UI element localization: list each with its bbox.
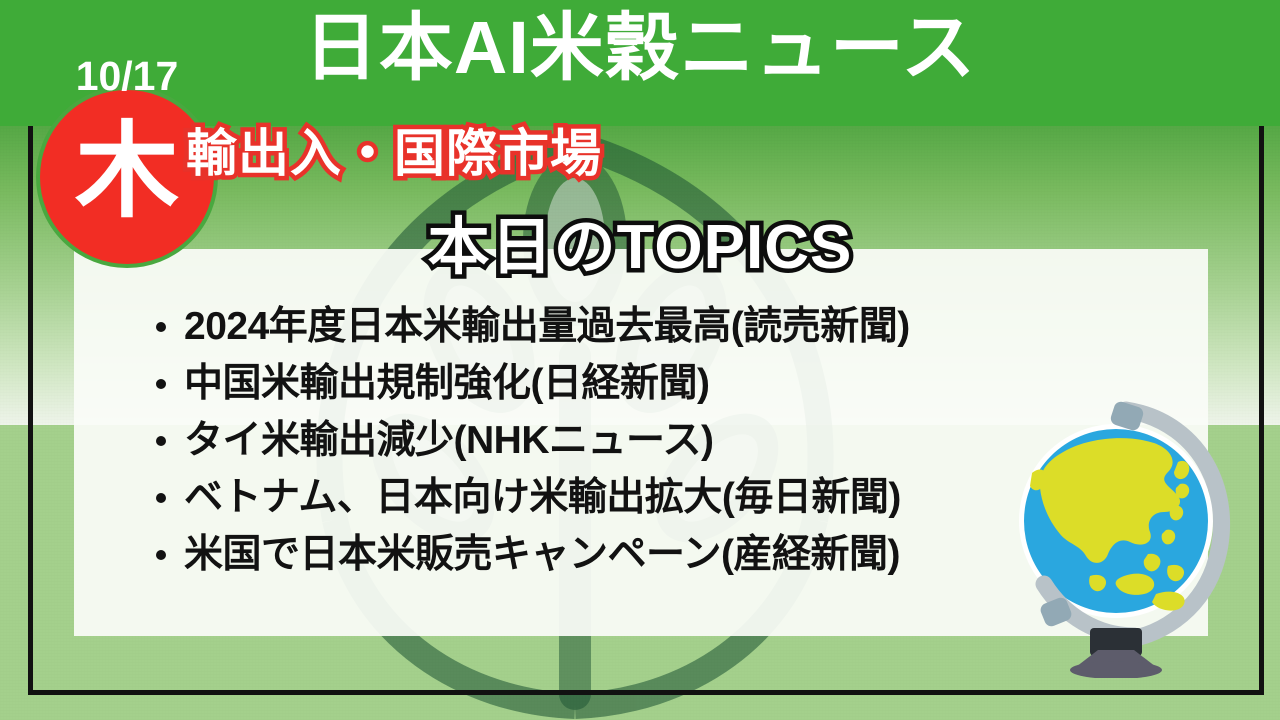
list-item-label: ベトナム、日本向け米輸出拡大(毎日新聞) [184,476,901,519]
list-item-label: タイ米輸出減少(NHKニュース) [184,419,714,462]
list-item: 中国米輸出規制強化(日経新聞) [148,355,1148,412]
list-item-label: 米国で日本米販売キャンペーン(産経新聞) [184,533,900,576]
bullet-icon [156,436,166,446]
list-item: ベトナム、日本向け米輸出拡大(毎日新聞) [148,469,1148,526]
list-item: タイ米輸出減少(NHKニュース) [148,412,1148,469]
news-slide: 日本AI米穀ニュース 木 10/17 輸出入・国際市場 本日のTOPICS 20… [0,0,1280,720]
list-item-label: 中国米輸出規制強化(日経新聞) [184,362,709,405]
globe-icon [1008,388,1238,678]
list-item: 2024年度日本米輸出量過去最高(読売新聞) [148,298,1148,355]
category-subtitle: 輸出入・国際市場 [186,112,602,186]
topics-heading: 本日のTOPICS [0,196,1280,286]
topics-list: 2024年度日本米輸出量過去最高(読売新聞) 中国米輸出規制強化(日経新聞) タ… [148,298,1148,583]
bullet-icon [156,322,166,332]
bullet-icon [156,493,166,503]
bullet-icon [156,550,166,560]
bullet-icon [156,379,166,389]
list-item-label: 2024年度日本米輸出量過去最高(読売新聞) [184,305,910,348]
date-label: 10/17 [36,56,218,97]
list-item: 米国で日本米販売キャンペーン(産経新聞) [148,526,1148,583]
